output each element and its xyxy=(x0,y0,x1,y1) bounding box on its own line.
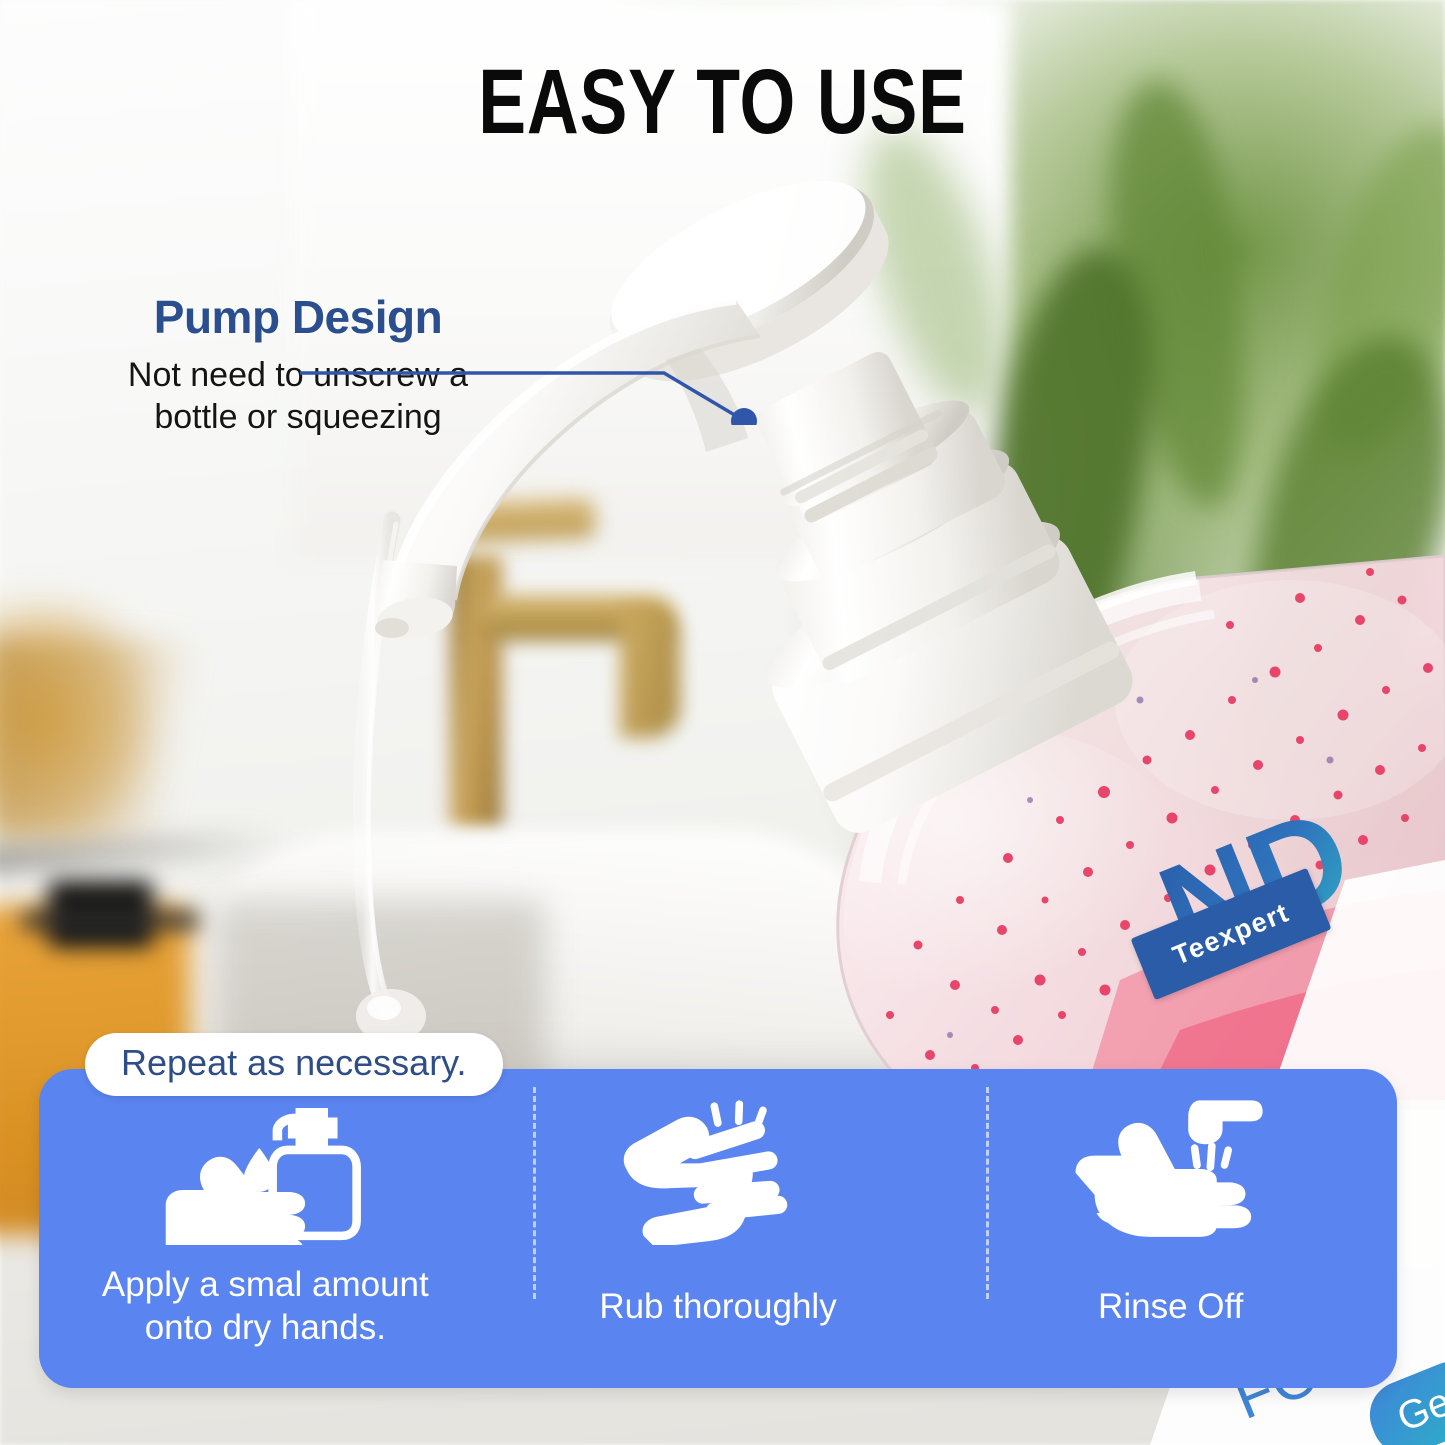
product-infographic: ND FO Ge xyxy=(0,0,1445,1445)
callout-leader-line xyxy=(300,355,770,425)
hand-with-dispenser-icon xyxy=(160,1095,370,1245)
usage-step-label-line-1: Rub thoroughly xyxy=(599,1285,836,1328)
rubbing-hands-icon xyxy=(613,1095,823,1245)
usage-step-label: Rinse Off xyxy=(1080,1285,1261,1328)
usage-step-label: Apply a smal amount onto dry hands. xyxy=(84,1263,447,1349)
usage-step: Rinse Off xyxy=(944,1069,1397,1388)
usage-step-label: Rub thoroughly xyxy=(581,1285,854,1328)
callout-heading: Pump Design xyxy=(88,293,508,341)
faucet-elbow xyxy=(620,608,680,738)
usage-step: Rub thoroughly xyxy=(492,1069,945,1388)
repeat-note: Repeat as necessary. xyxy=(85,1033,503,1096)
page-title: EASY TO USE xyxy=(159,50,1286,155)
usage-step: Apply a smal amount onto dry hands. xyxy=(39,1069,492,1388)
usage-step-label-line-2: onto dry hands. xyxy=(102,1306,429,1349)
leader-dot xyxy=(731,408,757,425)
usage-steps-panel: Apply a smal amount onto dry hands. xyxy=(39,1069,1397,1388)
amber-plant-leaves xyxy=(0,640,220,840)
faucet-top xyxy=(454,498,595,543)
amber-bottle-pump-arm xyxy=(20,912,200,929)
hands-under-faucet-icon xyxy=(1066,1095,1276,1245)
usage-step-label-line-1: Rinse Off xyxy=(1098,1285,1243,1328)
usage-step-label-line-1: Apply a smal amount xyxy=(102,1263,429,1306)
